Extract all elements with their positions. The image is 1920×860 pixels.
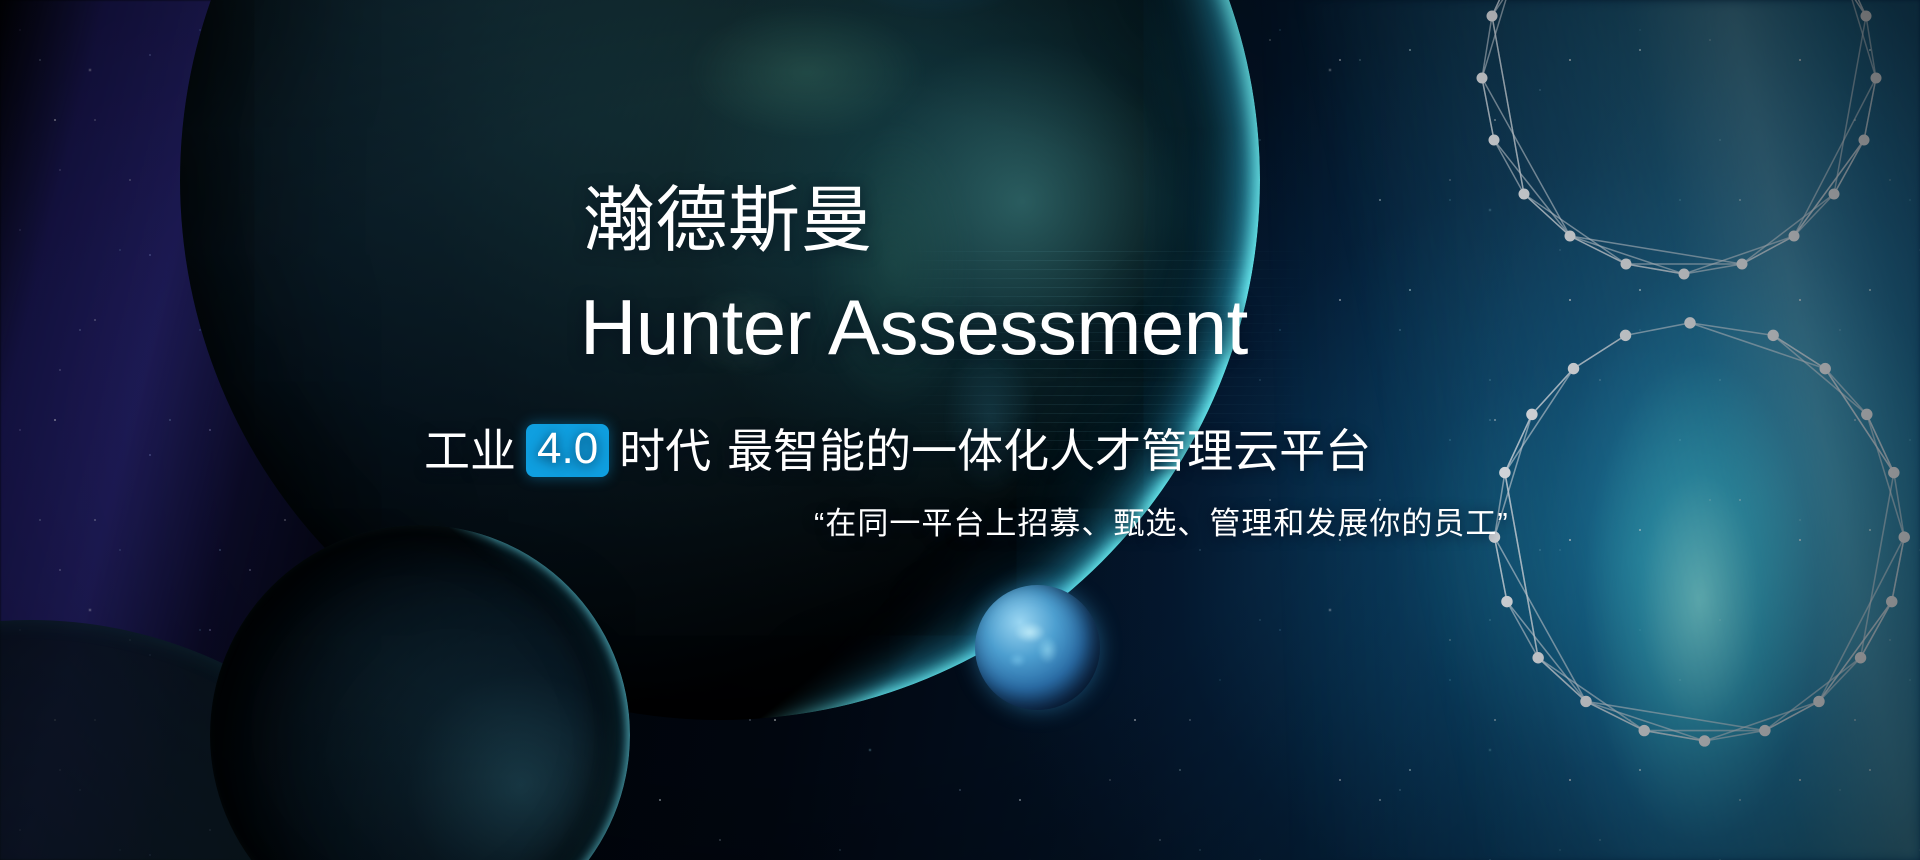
hero-banner: 瀚德斯曼 Hunter Assessment 工业 4.0 时代 最智能的一体化… [0,0,1920,860]
industry-version-badge: 4.0 [526,424,609,477]
tagline-before-badge: 工业 [424,428,516,474]
tagline-rest: 最智能的一体化人才管理云平台 [727,428,1371,474]
hero-subtitle-quote: “在同一平台上招募、甄选、管理和发展你的员工” [814,508,1509,539]
brand-name-chinese: 瀚德斯曼 [583,185,873,257]
tagline: 工业 4.0 时代 最智能的一体化人才管理云平台 [424,424,1371,477]
brand-name-english: Hunter Assessment [580,288,1248,366]
hero-copy: 瀚德斯曼 Hunter Assessment 工业 4.0 时代 最智能的一体化… [0,0,1920,860]
tagline-after-badge: 时代 [619,428,711,474]
